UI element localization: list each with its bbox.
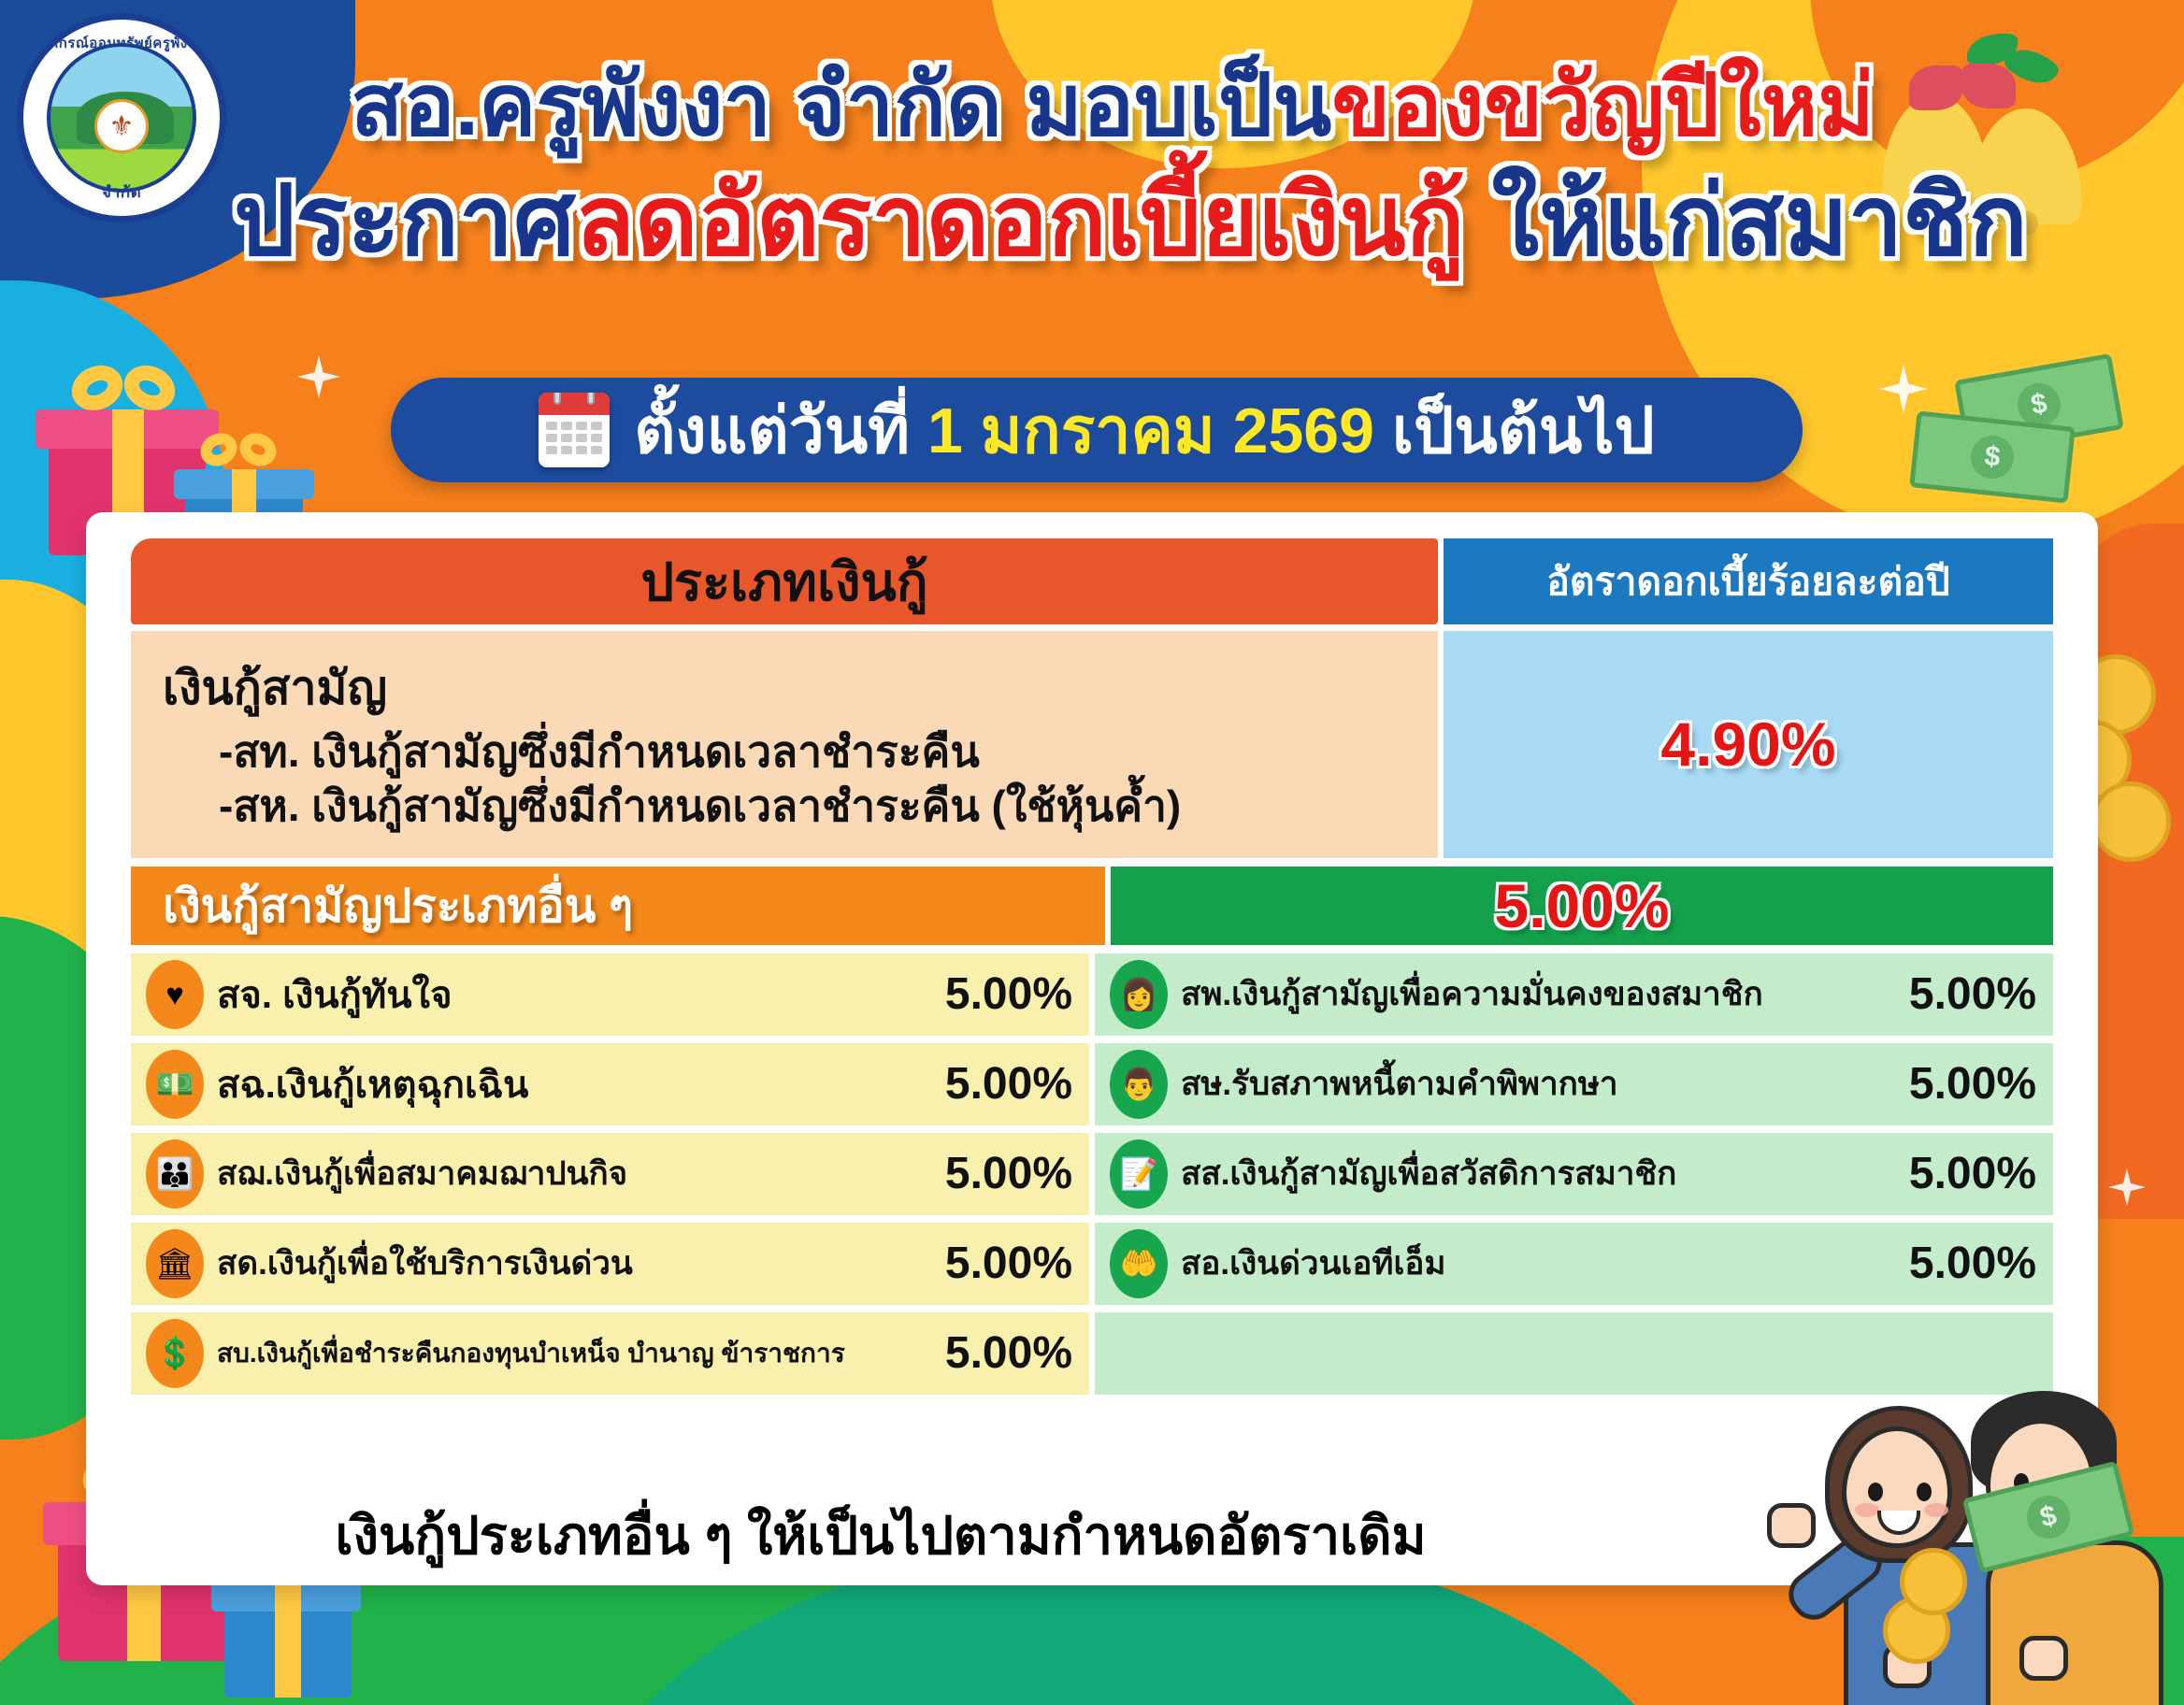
ordinary-loan-sub-1: -สท. เงินกู้สามัญซึ่งมีกำหนดเวลาชำระคืน [163,725,1406,780]
ordinary-loan-sub-2: -สห. เงินกู้สามัญซึ่งมีกำหนดเวลาชำระคืน … [163,780,1406,834]
hand-coin-icon: 💲 [146,1319,204,1388]
sparkle-icon [297,355,340,398]
banknote-icon [1909,410,2076,503]
headline-block: สอ.ครูพังงา จำกัด มอบเป็นของขวัญปีใหม่ ป… [234,58,1991,277]
logo-emblem-scene: ⚜ [47,43,196,193]
loan-label: สจ. เงินกู้ทันใจ [217,965,945,1024]
list-item[interactable]: 💲 สบ.เงินกู้เพื่อชำระคืนกองทุนบำเหน็จ บำ… [131,1312,1089,1395]
loan-rate: 5.00% [945,1327,1072,1379]
other-ordinary-label: เงินกู้สามัญประเภทอื่น ๆ [131,867,1105,945]
ordinary-loan-title: เงินกู้สามัญ [163,652,1406,725]
effective-date-text: ตั้งแต่วันที่ 1 มกราคม 2569 เป็นต้นไป [634,380,1654,480]
logo-bottom-text: จำกัด [23,179,220,205]
list-item[interactable]: 📝 สส.เงินกู้สามัญเพื่อสวัสดิการสมาชิก 5.… [1095,1133,2053,1215]
loan-rate: 5.00% [1909,1238,2036,1289]
loan-rate: 5.00% [1909,1148,2036,1199]
woman-avatar-icon: 👩 [1110,960,1168,1029]
loan-type-columns: ♥ สจ. เงินกู้ทันใจ 5.00% 💵 สฉ.เงินกู้เหต… [131,953,2053,1395]
coin-icon [1900,1548,1967,1615]
loan-rate: 5.00% [945,968,1072,1020]
loan-label: สบ.เงินกู้เพื่อชำระคืนกองทุนบำเหน็จ บำนา… [217,1333,945,1374]
rates-table: ประเภทเงินกู้ อัตราดอกเบี้ยร้อยละต่อปี เ… [131,538,2053,1395]
hand-money-icon: 🤲 [1110,1229,1168,1298]
ordinary-loan-desc: เงินกู้สามัญ -สท. เงินกู้สามัญซึ่งมีกำหน… [131,631,1438,858]
date-prefix: ตั้งแต่วันที่ [634,395,927,466]
effective-date-banner: ตั้งแต่วันที่ 1 มกราคม 2569 เป็นต้นไป [391,378,1803,482]
headline-line-2: ประกาศลดอัตราดอกเบี้ยเงินกู้ ให้แก่สมาชิ… [234,167,1991,276]
loan-label: สด.เงินกู้เพื่อใช้บริการเงินด่วน [217,1238,945,1289]
list-item[interactable]: 👪 สฌ.เงินกู้เพื่อสมาคมฌาปนกิจ 5.00% [131,1133,1089,1215]
list-item[interactable]: 🏛 สด.เงินกู้เพื่อใช้บริการเงินด่วน 5.00% [131,1223,1089,1305]
table-row-other-ordinary: เงินกู้สามัญประเภทอื่น ๆ 5.00% [131,867,2053,945]
table-header-row: ประเภทเงินกู้ อัตราดอกเบี้ยร้อยละต่อปี [131,538,2053,624]
headline-line1-blue: สอ.ครูพังงา จำกัด มอบเป็น [351,58,1331,153]
date-suffix: เป็นต้นไป [1374,395,1655,466]
loan-column-right: 👩 สพ.เงินกู้สามัญเพื่อความมั่นคงของสมาชิ… [1095,953,2053,1395]
document-pen-icon: 📝 [1110,1139,1168,1209]
loan-rate: 5.00% [1909,968,2036,1020]
ordinary-loan-rate-value: 4.90% [1660,709,1835,780]
other-ordinary-rate-cell: 5.00% [1111,867,2053,945]
headline-line1-red: ของขวัญปีใหม่ [1331,58,1875,153]
loan-column-left: ♥ สจ. เงินกู้ทันใจ 5.00% 💵 สฉ.เงินกู้เหต… [131,953,1089,1395]
list-item-placeholder [1095,1312,2053,1395]
calendar-icon [539,393,610,467]
coin-icon [2091,781,2171,862]
sparkle-icon [2108,1168,2146,1206]
date-highlight: 1 มกราคม 2569 [927,395,1374,466]
loan-label: สษ.รับสภาพหนี้ตามคำพิพากษา [1181,1058,1909,1110]
loan-rate: 5.00% [945,1148,1072,1199]
headline-line2-red: ลดอัตราดอกเบี้ยเงินกู้ [575,167,1464,276]
other-ordinary-rate-value: 5.00% [1494,870,1669,941]
loan-label: สฌ.เงินกู้เพื่อสมาคมฌาปนกิจ [217,1148,945,1199]
list-item[interactable]: 🤲 สอ.เงินด่วนเอทีเอ็ม 5.00% [1095,1223,2053,1305]
loan-rate: 5.00% [945,1058,1072,1110]
bank-building-icon: 🏛 [146,1229,204,1298]
group-people-icon: 👪 [146,1139,204,1209]
ordinary-loan-rate-cell: 4.90% [1444,631,2053,858]
list-item[interactable]: 👩 สพ.เงินกู้สามัญเพื่อความมั่นคงของสมาชิ… [1095,953,2053,1036]
loan-rate: 5.00% [1909,1058,2036,1110]
loan-label: สส.เงินกู้สามัญเพื่อสวัสดิการสมาชิก [1181,1148,1909,1199]
rates-table-card: ประเภทเงินกู้ อัตราดอกเบี้ยร้อยละต่อปี เ… [86,512,2098,1585]
list-item[interactable]: ♥ สจ. เงินกู้ทันใจ 5.00% [131,953,1089,1036]
man-avatar-icon: 👨 [1110,1050,1168,1119]
list-item[interactable]: 👨 สษ.รับสภาพหนี้ตามคำพิพากษา 5.00% [1095,1043,2053,1125]
headline-line2-blue-start: ประกาศ [234,167,575,276]
logo-crest-icon: ⚜ [94,99,149,153]
loan-label: สฉ.เงินกู้เหตุฉุกเฉิน [217,1054,945,1114]
cooperative-logo: สหกรณ์ออมทรัพย์ครูพังงา ⚜ จำกัด [17,13,226,222]
table-header-loan-type: ประเภทเงินกู้ [131,538,1438,624]
loan-rate: 5.00% [945,1238,1072,1289]
money-bag-icon: 💵 [146,1050,204,1119]
headline-line-1: สอ.ครูพังงา จำกัด มอบเป็นของขวัญปีใหม่ [234,58,1991,154]
loan-label: สอ.เงินด่วนเอทีเอ็ม [1181,1238,1909,1289]
footer-note: เงินกู้ประเภทอื่น ๆ ให้เป็นไปตามกำหนดอัต… [86,1494,1675,1577]
hand-heart-icon: ♥ [146,960,204,1029]
sparkle-icon [1879,365,1928,413]
poster-canvas: สหกรณ์ออมทรัพย์ครูพังงา ⚜ จำกัด สอ.ครูพั… [0,0,2184,1705]
list-item[interactable]: 💵 สฉ.เงินกู้เหตุฉุกเฉิน 5.00% [131,1043,1089,1125]
table-header-rate: อัตราดอกเบี้ยร้อยละต่อปี [1444,538,2053,624]
headline-line2-blue-end: ให้แก่สมาชิก [1465,167,2028,276]
table-row-ordinary-loan: เงินกู้สามัญ -สท. เงินกู้สามัญซึ่งมีกำหน… [131,631,2053,858]
loan-label: สพ.เงินกู้สามัญเพื่อความมั่นคงของสมาชิก [1181,968,1909,1020]
